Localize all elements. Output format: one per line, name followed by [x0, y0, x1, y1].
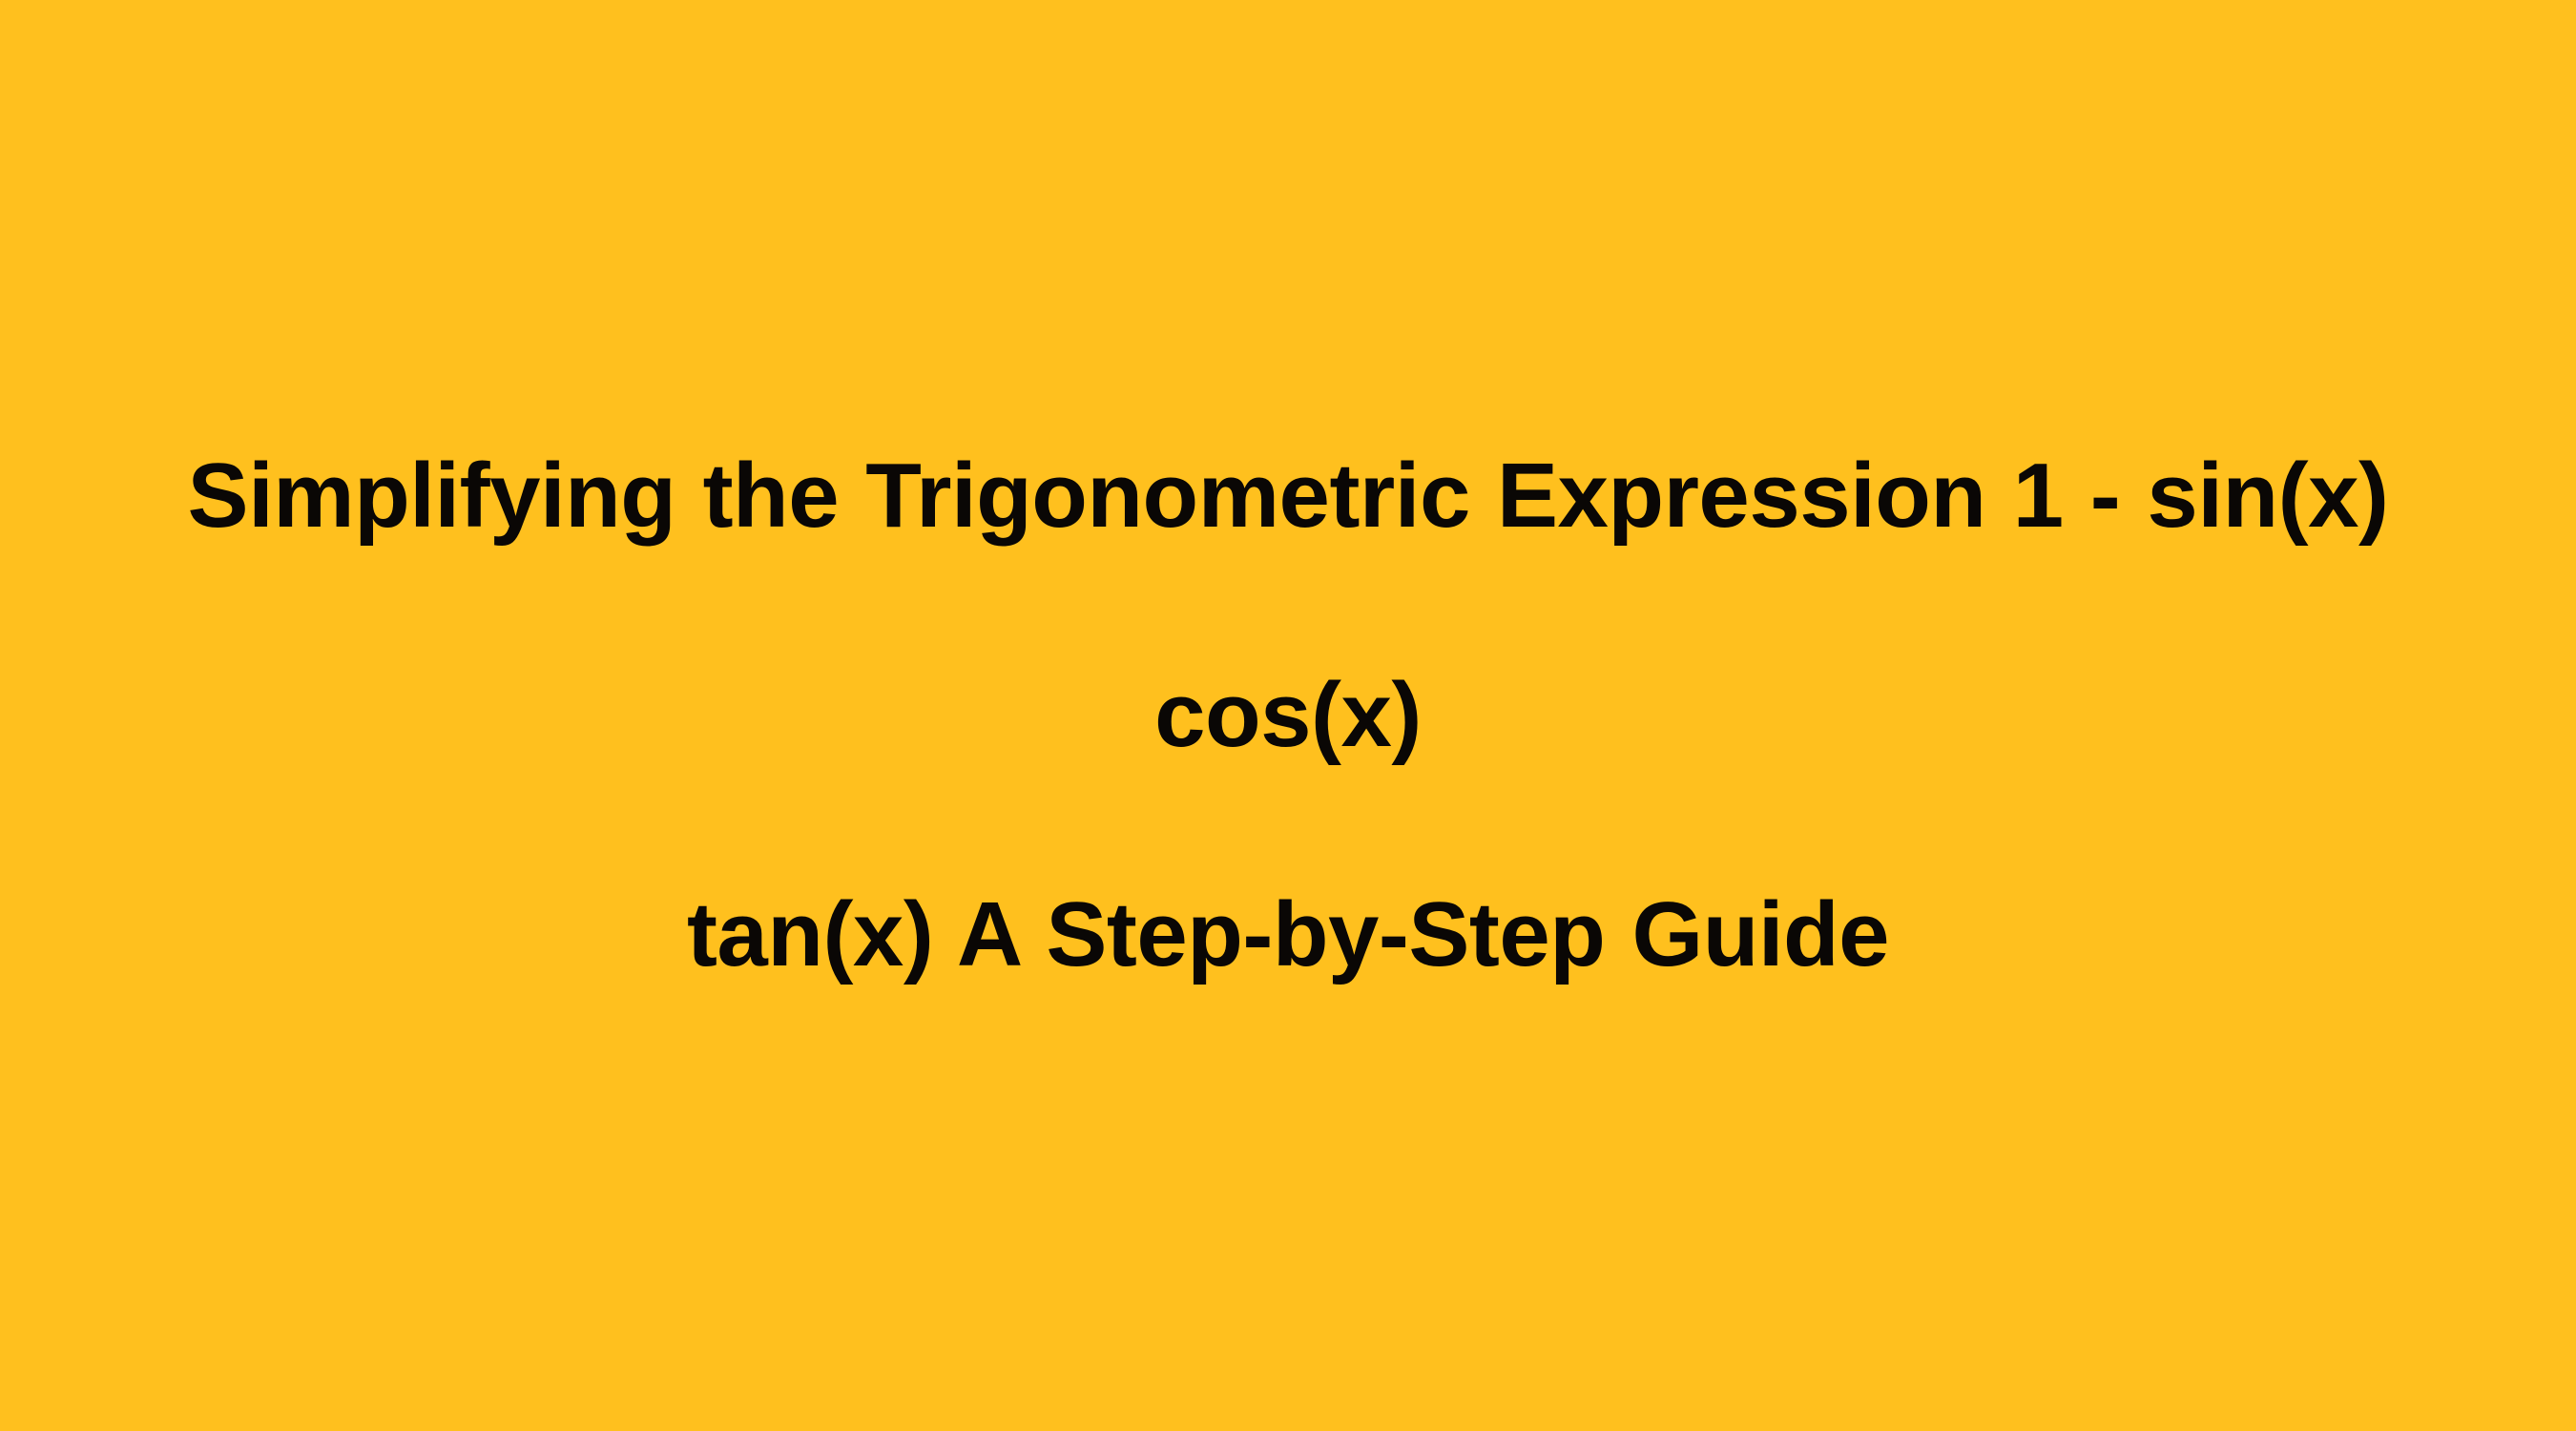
title-block: Simplifying the Trigonometric Expression… [0, 386, 2576, 1045]
page-title: Simplifying the Trigonometric Expression… [76, 386, 2500, 1045]
page-title-line-2: tan(x) A Step-by-Step Guide [76, 825, 2500, 1045]
page-title-line-1: Simplifying the Trigonometric Expression… [76, 386, 2500, 825]
title-banner: Simplifying the Trigonometric Expression… [0, 0, 2576, 1431]
